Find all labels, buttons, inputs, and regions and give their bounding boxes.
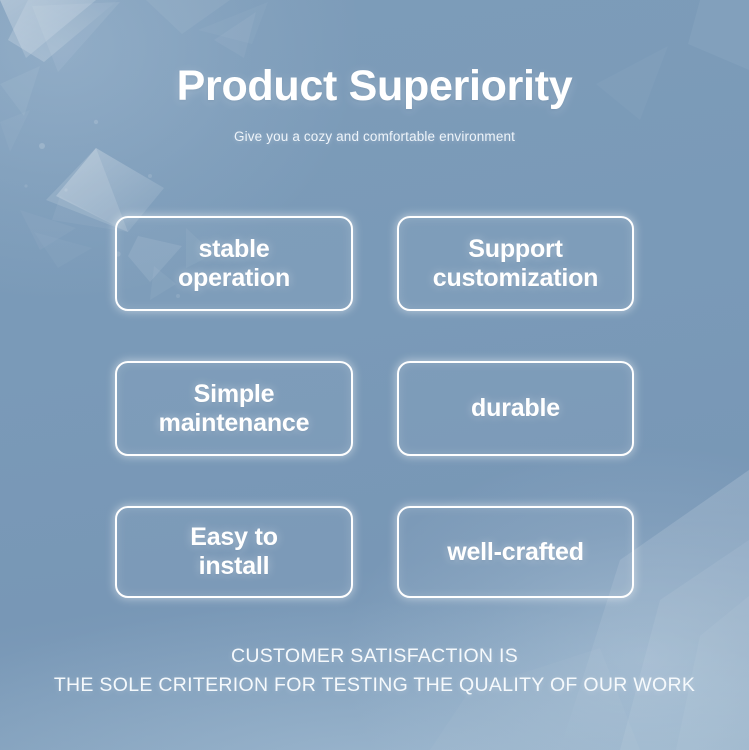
- feature-card-easy-to-install[interactable]: Easy to install: [115, 506, 353, 598]
- page-subtitle: Give you a cozy and comfortable environm…: [0, 110, 749, 144]
- feature-card-label: Support customization: [425, 235, 606, 293]
- feature-card-stable-operation[interactable]: stable operation: [115, 216, 353, 311]
- feature-card-simple-maintenance[interactable]: Simple maintenance: [115, 361, 353, 456]
- page-title: Product Superiority: [0, 0, 749, 110]
- feature-card-label: well-crafted: [439, 538, 592, 567]
- feature-card-well-crafted[interactable]: well-crafted: [397, 506, 634, 598]
- footer-slogan-line-1: CUSTOMER SATISFACTION IS: [0, 642, 749, 671]
- feature-card-label: durable: [463, 394, 568, 423]
- poster-header: Product Superiority Give you a cozy and …: [0, 0, 749, 144]
- product-superiority-poster: Product Superiority Give you a cozy and …: [0, 0, 749, 750]
- feature-card-durable[interactable]: durable: [397, 361, 634, 456]
- footer-slogan: CUSTOMER SATISFACTION IS THE SOLE CRITER…: [0, 642, 749, 700]
- feature-card-grid: stable operation Support customization S…: [115, 216, 634, 598]
- footer-slogan-line-2: THE SOLE CRITERION FOR TESTING THE QUALI…: [0, 671, 749, 700]
- feature-card-label: stable operation: [170, 235, 298, 293]
- feature-card-label: Simple maintenance: [151, 380, 318, 438]
- feature-card-support-customization[interactable]: Support customization: [397, 216, 634, 311]
- feature-card-label: Easy to install: [182, 523, 286, 581]
